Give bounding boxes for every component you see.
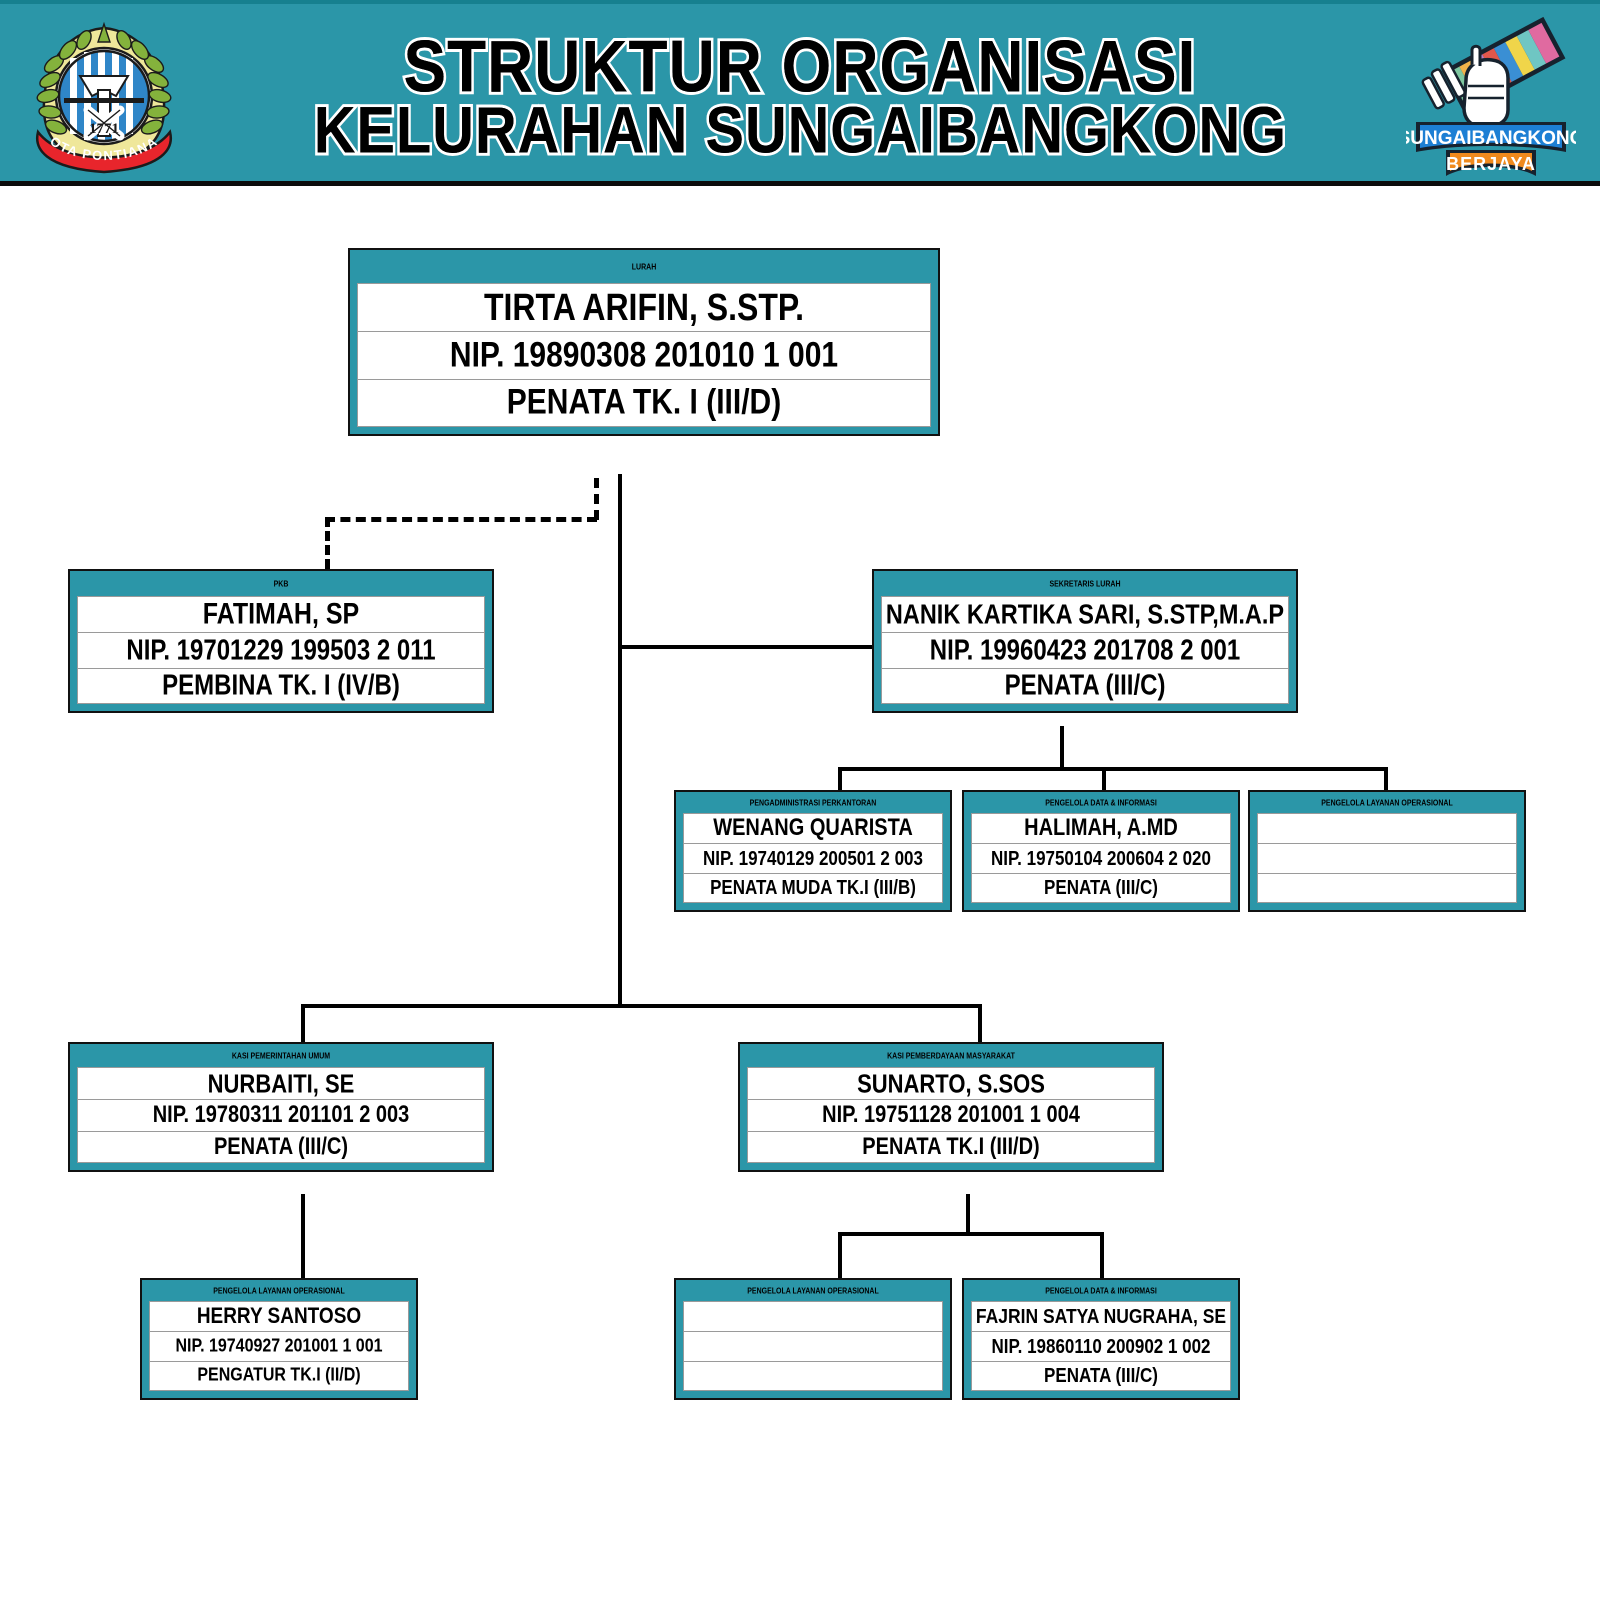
node-pengelola-data-informasi-pemberdayaan-rank: PENATA (III/C) — [971, 1361, 1231, 1391]
connector-pemberdayaan-drop — [966, 1194, 970, 1234]
node-pengelola-layanan-operasional-sekretaris-rank — [1257, 873, 1517, 903]
node-pengelola-layanan-operasional-pemerintahan-name: HERRY SANTOSO — [149, 1301, 409, 1331]
node-pengadministrasi-perkantoran-title: PENGADMINISTRASI PERKANTORAN — [676, 790, 950, 815]
node-sekretaris-lurah-nip: NIP. 19960423 201708 2 001 — [881, 632, 1289, 668]
node-pkb-name: FATIMAH, SP — [77, 596, 485, 632]
node-kasi-pemberdayaan-masyarakat-rank: PENATA TK.I (III/D) — [747, 1131, 1155, 1163]
node-pengelola-data-informasi-pemberdayaan-nip: NIP. 19860110 200902 1 002 — [971, 1331, 1231, 1361]
node-pengelola-layanan-operasional-pemberdayaan-nip — [683, 1331, 943, 1361]
node-lurah-title: LURAH — [350, 247, 938, 287]
node-kasi-pemberdayaan-masyarakat-nip: NIP. 19751128 201001 1 004 — [747, 1099, 1155, 1131]
node-pengelola-data-informasi-sekretaris[interactable]: PENGELOLA DATA & INFORMASI HALIMAH, A.MD… — [962, 790, 1240, 912]
node-kasi-pemberdayaan-masyarakat-name: SUNARTO, S.SOS — [747, 1067, 1155, 1099]
node-pengelola-layanan-operasional-sekretaris-name — [1257, 813, 1517, 843]
connector-pemberdayaan-child-1 — [838, 1232, 842, 1278]
connector-sekretaris-child-3 — [1384, 767, 1388, 792]
node-kasi-pemberdayaan-masyarakat-title: KASI PEMBERDAYAAN MASYARAKAT — [740, 1042, 1162, 1070]
connector-kasi-bus — [301, 1004, 982, 1008]
node-pengelola-data-informasi-sekretaris-nip: NIP. 19750104 200604 2 020 — [971, 843, 1231, 873]
node-sekretaris-lurah[interactable]: SEKRETARIS LURAH NANIK KARTIKA SARI, S.S… — [872, 569, 1298, 713]
title-line-2: KELURAHAN SUNGAIBANGKONG — [313, 96, 1286, 163]
connector-pemberdayaan-child-2 — [1100, 1232, 1104, 1278]
node-sekretaris-lurah-title: SEKRETARIS LURAH — [874, 569, 1296, 599]
org-chart-canvas: LURAH TIRTA ARIFIN, S.STP. NIP. 19890308… — [0, 186, 1600, 1599]
node-pengadministrasi-perkantoran-rank: PENATA MUDA TK.I (III/B) — [683, 873, 943, 903]
node-pengelola-layanan-operasional-sekretaris-nip — [1257, 843, 1517, 873]
logo-text-top: SUNGAIBANGKONG — [1406, 128, 1576, 149]
node-pengelola-layanan-operasional-pemberdayaan-rank — [683, 1361, 943, 1391]
node-pengelola-data-informasi-sekretaris-name: HALIMAH, A.MD — [971, 813, 1231, 843]
node-kasi-pemerintahan-umum-rank: PENATA (III/C) — [77, 1131, 485, 1163]
node-lurah[interactable]: LURAH TIRTA ARIFIN, S.STP. NIP. 19890308… — [348, 248, 940, 436]
logo-text-bottom: BERJAYA — [1446, 154, 1536, 174]
connector-lurah-trunk — [618, 474, 622, 972]
page-title: STRUKTUR ORGANISASI KELURAHAN SUNGAIBANG… — [210, 12, 1390, 182]
node-pengelola-layanan-operasional-pemberdayaan[interactable]: PENGELOLA LAYANAN OPERASIONAL — [674, 1278, 952, 1400]
node-sekretaris-lurah-rank: PENATA (III/C) — [881, 668, 1289, 704]
node-pengelola-layanan-operasional-sekretaris[interactable]: PENGELOLA LAYANAN OPERASIONAL — [1248, 790, 1526, 912]
node-pengelola-layanan-operasional-pemerintahan-nip: NIP. 19740927 201001 1 001 — [149, 1331, 409, 1361]
org-chart-page: 1771 KOTA PONTIANAK STRUKTUR ORGANISASI … — [0, 0, 1600, 1599]
node-pkb-rank: PEMBINA TK. I (IV/B) — [77, 668, 485, 704]
connector-pemberdayaan-bus — [838, 1232, 1104, 1236]
node-pengelola-data-informasi-sekretaris-title: PENGELOLA DATA & INFORMASI — [964, 790, 1238, 815]
node-pengelola-data-informasi-pemberdayaan-title: PENGELOLA DATA & INFORMASI — [964, 1278, 1238, 1303]
connector-pkb-dashed-bottom — [325, 517, 330, 569]
node-pengelola-data-informasi-pemberdayaan-name: FAJRIN SATYA NUGRAHA, SE — [971, 1301, 1231, 1331]
node-pengadministrasi-perkantoran-name: WENANG QUARISTA — [683, 813, 943, 843]
node-pengadministrasi-perkantoran[interactable]: PENGADMINISTRASI PERKANTORAN WENANG QUAR… — [674, 790, 952, 912]
node-sekretaris-lurah-name: NANIK KARTIKA SARI, S.STP,M.A.P — [881, 596, 1289, 632]
connector-pkb-dashed-top — [594, 478, 599, 520]
node-pkb[interactable]: PKB FATIMAH, SP NIP. 19701229 199503 2 0… — [68, 569, 494, 713]
node-kasi-pemerintahan-umum-name: NURBAITI, SE — [77, 1067, 485, 1099]
node-kasi-pemerintahan-umum-title: KASI PEMERINTAHAN UMUM — [70, 1042, 492, 1070]
node-lurah-name: TIRTA ARIFIN, S.STP. — [357, 283, 931, 331]
node-pkb-title: PKB — [70, 569, 492, 599]
node-pengelola-layanan-operasional-pemerintahan-rank: PENGATUR TK.I (II/D) — [149, 1361, 409, 1391]
emblem-year: 1771 — [89, 121, 119, 137]
connector-lurah-trunk-lower — [618, 972, 622, 1008]
sungaibangkong-berjaya-logo-icon: SUNGAIBANGKONG BERJAYA — [1406, 14, 1576, 182]
node-pengelola-layanan-operasional-pemerintahan[interactable]: PENGELOLA LAYANAN OPERASIONAL HERRY SANT… — [140, 1278, 418, 1400]
node-kasi-pemerintahan-umum[interactable]: KASI PEMERINTAHAN UMUM NURBAITI, SE NIP.… — [68, 1042, 494, 1172]
page-header: 1771 KOTA PONTIANAK STRUKTUR ORGANISASI … — [0, 0, 1600, 186]
node-pengelola-layanan-operasional-pemberdayaan-name — [683, 1301, 943, 1331]
node-kasi-pemberdayaan-masyarakat[interactable]: KASI PEMBERDAYAAN MASYARAKAT SUNARTO, S.… — [738, 1042, 1164, 1172]
node-pengelola-layanan-operasional-sekretaris-title: PENGELOLA LAYANAN OPERASIONAL — [1250, 790, 1524, 815]
node-pengadministrasi-perkantoran-nip: NIP. 19740129 200501 2 003 — [683, 843, 943, 873]
connector-pkb-dashed-horizontal — [325, 517, 597, 522]
connector-sekretaris-child-2 — [1102, 767, 1106, 792]
node-lurah-nip: NIP. 19890308 201010 1 001 — [357, 331, 931, 379]
node-pkb-nip: NIP. 19701229 199503 2 011 — [77, 632, 485, 668]
node-kasi-pemerintahan-umum-nip: NIP. 19780311 201101 2 003 — [77, 1099, 485, 1131]
node-pengelola-data-informasi-pemberdayaan[interactable]: PENGELOLA DATA & INFORMASI FAJRIN SATYA … — [962, 1278, 1240, 1400]
kota-pontianak-emblem-icon: 1771 KOTA PONTIANAK — [24, 20, 184, 178]
connector-kasi-pemberdayaan-drop — [978, 1004, 982, 1042]
connector-pemerintahan-child-drop — [301, 1194, 305, 1278]
connector-sekretaris-drop — [1060, 726, 1064, 769]
connector-sekretaris-bus — [838, 767, 1388, 771]
node-pengelola-data-informasi-sekretaris-rank: PENATA (III/C) — [971, 873, 1231, 903]
connector-kasi-pemerintahan-drop — [301, 1004, 305, 1042]
connector-sekretaris-child-1 — [838, 767, 842, 792]
node-pengelola-layanan-operasional-pemerintahan-title: PENGELOLA LAYANAN OPERASIONAL — [142, 1278, 416, 1303]
node-lurah-rank: PENATA TK. I (III/D) — [357, 379, 931, 427]
node-pengelola-layanan-operasional-pemberdayaan-title: PENGELOLA LAYANAN OPERASIONAL — [676, 1278, 950, 1303]
